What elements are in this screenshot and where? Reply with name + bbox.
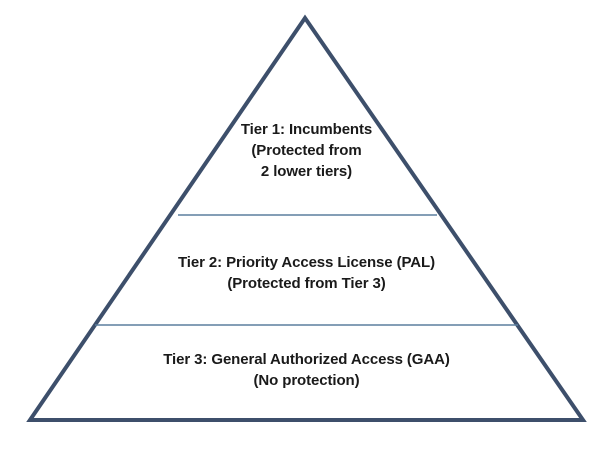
tier-3-label: Tier 3: General Authorized Access (GAA) … xyxy=(0,349,613,391)
tier-1-line-1: Tier 1: Incumbents xyxy=(0,119,613,140)
tier-1-line-2: (Protected from xyxy=(0,140,613,161)
tier-2-line-1: Tier 2: Priority Access License (PAL) xyxy=(0,252,613,273)
tier-2-label: Tier 2: Priority Access License (PAL) (P… xyxy=(0,252,613,294)
tier-3-line-1: Tier 3: General Authorized Access (GAA) xyxy=(0,349,613,370)
tier-1-line-3: 2 lower tiers) xyxy=(0,161,613,182)
tier-2-line-2: (Protected from Tier 3) xyxy=(0,273,613,294)
pyramid-shape xyxy=(0,0,613,474)
tier-3-line-2: (No protection) xyxy=(0,370,613,391)
tier-1-label: Tier 1: Incumbents (Protected from 2 low… xyxy=(0,119,613,182)
pyramid-diagram: Tier 1: Incumbents (Protected from 2 low… xyxy=(0,0,613,474)
